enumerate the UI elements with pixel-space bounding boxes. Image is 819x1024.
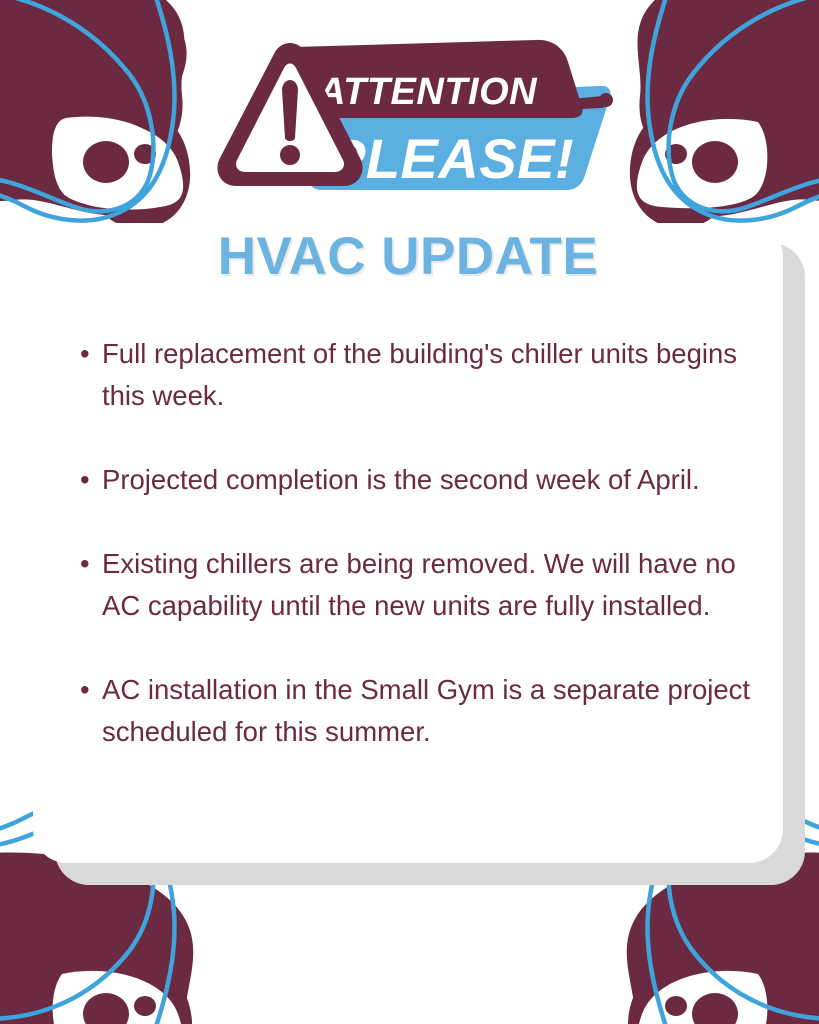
list-item-text: Existing chillers are being removed. We … — [102, 543, 780, 627]
attention-label: ATTENTION — [317, 71, 538, 113]
announcement-bullet-list: • Full replacement of the building's chi… — [80, 333, 780, 753]
list-item: • Projected completion is the second wee… — [80, 459, 780, 501]
list-item-text: Projected completion is the second week … — [102, 459, 780, 501]
bullet-marker-icon: • — [80, 543, 102, 585]
list-item: • Full replacement of the building's chi… — [80, 333, 780, 417]
bullet-marker-icon: • — [80, 333, 102, 375]
bullet-marker-icon: • — [80, 459, 102, 501]
attention-please-badge: ATTENTION PLEASE! — [210, 38, 620, 203]
list-item-text: AC installation in the Small Gym is a se… — [102, 669, 780, 753]
list-item: • AC installation in the Small Gym is a … — [80, 669, 780, 753]
list-item: • Existing chillers are being removed. W… — [80, 543, 780, 627]
list-item-text: Full replacement of the building's chill… — [102, 333, 780, 417]
page-title: HVAC UPDATE — [33, 226, 783, 287]
poster-canvas: ATTENTION PLEASE! HVAC UPDATE • Full rep… — [0, 0, 819, 1024]
bullet-marker-icon: • — [80, 669, 102, 711]
blob-top-right — [630, 0, 819, 228]
please-label: PLEASE! — [328, 127, 574, 190]
blob-top-left — [0, 0, 190, 228]
